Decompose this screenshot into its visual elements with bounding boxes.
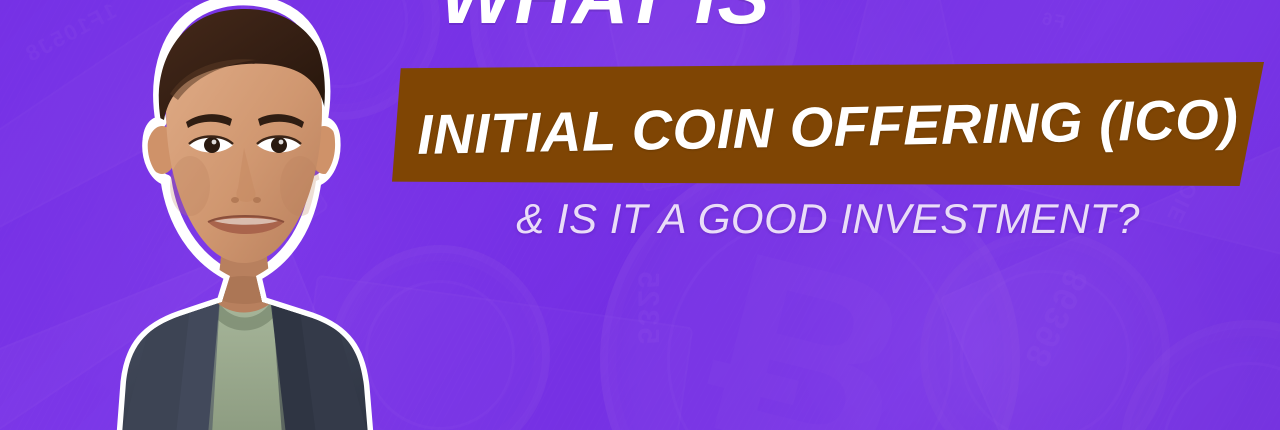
left-eye-glint	[212, 140, 217, 145]
title-line-top-text: WHAT IS	[440, 0, 980, 36]
subtitle-text: & IS IT A GOOD INVESTMENT?	[516, 195, 1140, 243]
right-pupil	[271, 137, 287, 153]
right-nostril	[253, 197, 261, 203]
presenter-cutout	[0, 0, 414, 430]
right-eye-glint	[279, 140, 284, 145]
left-cheek-shadow	[170, 156, 210, 216]
left-nostril	[231, 197, 239, 203]
subtitle: & IS IT A GOOD INVESTMENT?	[392, 188, 1264, 250]
left-pupil	[204, 137, 220, 153]
video-thumbnail: Ƀ 86398 BRKEAOIE 5325 1F105J8 F6 WHAT IS…	[0, 0, 1280, 430]
title-line-top: WHAT IS	[440, 0, 980, 36]
presenter-body	[94, 9, 394, 430]
headline-banner	[392, 62, 1264, 186]
